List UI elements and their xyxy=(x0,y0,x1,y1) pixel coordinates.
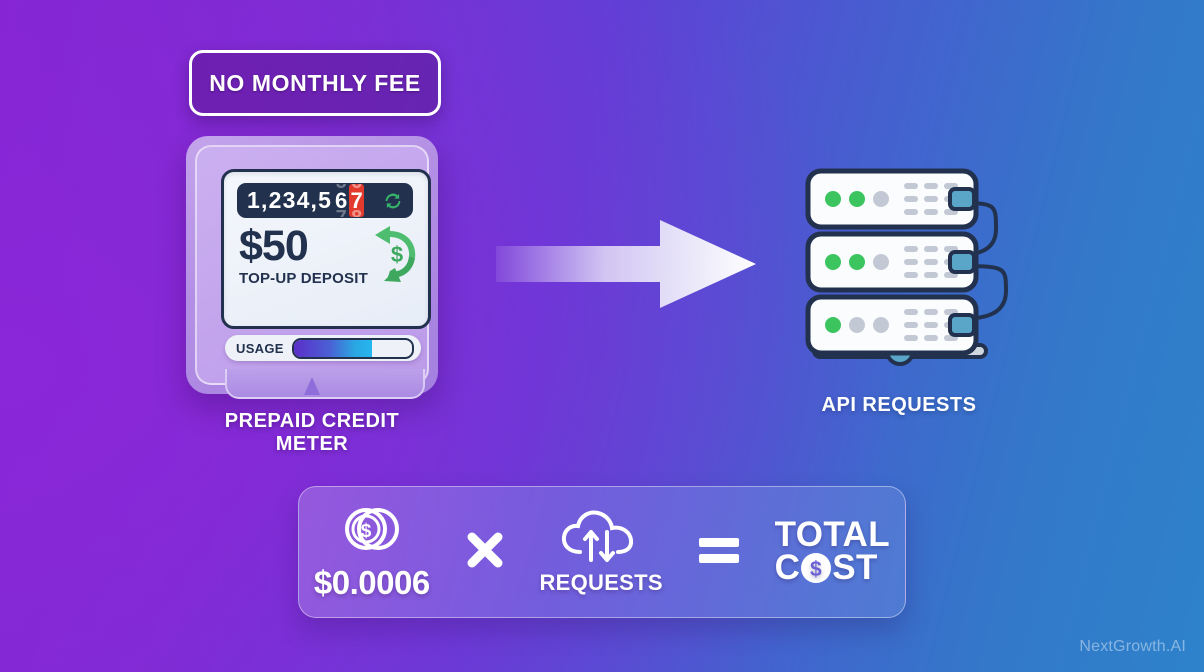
multiply-icon xyxy=(460,525,510,575)
meter-screen: 1,234,5 5 6 7 6 7 8 xyxy=(221,169,431,329)
api-server-rack xyxy=(800,163,1040,378)
usage-fill xyxy=(294,340,372,357)
requests-label: REQUESTS xyxy=(539,570,662,596)
equals-icon xyxy=(693,528,745,572)
usage-meter: USAGE xyxy=(225,335,421,361)
svg-text:$: $ xyxy=(391,242,403,267)
equals-symbol xyxy=(693,528,745,577)
topup-amount-block: $50 TOP-UP DEPOSIT $ xyxy=(239,224,417,284)
watermark: NextGrowth.AI xyxy=(1079,638,1186,656)
servers-caption: API REQUESTS xyxy=(778,394,1020,417)
meter-stand-foot xyxy=(304,377,320,395)
cloud-upload-download-icon xyxy=(558,508,644,566)
total-label-line2: C $ ST xyxy=(775,551,878,585)
infographic-canvas: NO MONTHLY FEE 1,234,5 5 6 7 6 7 8 xyxy=(0,0,1204,672)
no-monthly-fee-badge: NO MONTHLY FEE xyxy=(189,50,441,116)
odometer-counter: 1,234,5 5 6 7 6 7 8 xyxy=(237,183,413,218)
total-cost-term: TOTAL C $ ST xyxy=(775,519,890,585)
meter-bezel: 1,234,5 5 6 7 6 7 8 xyxy=(195,145,429,385)
requests-term: REQUESTS xyxy=(539,508,662,596)
counter-ghost-top: 6 xyxy=(349,184,364,194)
total-label-line1: TOTAL xyxy=(775,519,890,551)
cost-letters-st: ST xyxy=(832,552,878,584)
usage-track xyxy=(292,338,414,359)
server-unit-1 xyxy=(808,171,976,227)
meter-caption: PREPAID CREDIT METER xyxy=(186,410,438,456)
svg-text:$: $ xyxy=(810,558,822,581)
server-unit-3 xyxy=(808,297,976,353)
price-per-request: $0.0006 xyxy=(314,564,430,602)
prepaid-credit-meter-device: 1,234,5 5 6 7 6 7 8 xyxy=(186,136,438,394)
svg-text:$: $ xyxy=(361,521,372,542)
circular-arrow-dollar-icon: $ xyxy=(357,222,421,284)
counter-ghost-bottom: 8 xyxy=(349,207,364,217)
cost-formula-panel: $ $0.0006 REQUESTS TOTAL xyxy=(298,486,906,618)
usage-label: USAGE xyxy=(236,341,284,356)
refresh-sync-icon xyxy=(382,190,404,212)
no-monthly-fee-label: NO MONTHLY FEE xyxy=(209,70,421,97)
price-term: $ $0.0006 xyxy=(314,502,430,602)
right-arrow-icon xyxy=(492,216,760,312)
cost-letter-c: C xyxy=(775,552,801,584)
counter-prev-ghost-top: 5 xyxy=(334,184,348,194)
counter-rolling-digit-highlight: 6 7 8 xyxy=(349,184,364,217)
meter-stand-neck xyxy=(225,369,425,399)
counter-prev-ghost-bottom: 7 xyxy=(334,207,348,217)
counter-static-digits: 1,234,5 xyxy=(247,187,332,214)
coin-dollar-letter-icon: $ xyxy=(799,551,833,585)
counter-rolling-digit-prev: 5 6 7 xyxy=(334,184,348,217)
server-unit-2 xyxy=(808,234,976,290)
multiply-symbol xyxy=(460,525,510,580)
coin-dollar-icon: $ xyxy=(340,502,404,560)
